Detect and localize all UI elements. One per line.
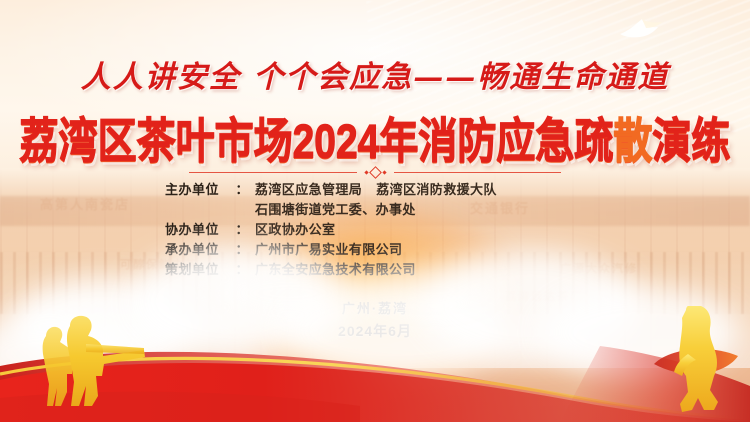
poster-slogan: 人人讲安全 个个会应急——畅通生命通道 — [0, 52, 750, 96]
organizer-label: 承办单位： — [165, 240, 249, 260]
divider-line-right — [394, 172, 562, 173]
organizer-row: 协办单位： 区政协办公室 — [165, 220, 585, 240]
person-silhouette-right — [652, 306, 742, 418]
title-segment-a: 荔湾区茶叶市场2024年消防应急疏 — [20, 116, 614, 168]
organizer-row: 主办单位： 石围塘街道党工委、办事处 — [165, 200, 585, 220]
title-segment-b: 散 — [613, 116, 652, 168]
ornament-diamond — [369, 166, 382, 179]
organizer-label: 主办单位： — [165, 180, 249, 200]
page-title: 荔湾区茶叶市场2024年消防应急疏散演练 — [0, 104, 750, 172]
organizer-value: 荔湾区应急管理局荔湾区消防救援大队 — [249, 180, 497, 200]
ornament-dot — [382, 170, 386, 174]
organizer-value: 石围塘街道党工委、办事处 — [249, 200, 416, 220]
ornamental-divider — [189, 166, 561, 178]
organizer-value: 广东全安应急技术有限公司 — [249, 260, 416, 280]
divider-ornament — [365, 168, 386, 177]
organizer-label: 策划单位： — [165, 260, 249, 280]
background-sign: 高第人南瓷店 — [40, 194, 130, 213]
divider-line-left — [189, 172, 357, 173]
organizer-list: 主办单位： 荔湾区应急管理局荔湾区消防救援大队 主办单位： 石围塘街道党工委、办… — [165, 180, 585, 280]
title-segment-c: 演练 — [652, 116, 730, 168]
organizer-value: 区政协办公室 — [249, 220, 335, 240]
ornament-dot — [364, 170, 368, 174]
organizer-row: 承办单位： 广州市广易实业有限公司 — [165, 240, 585, 260]
organizer-label: 协办单位： — [165, 220, 249, 240]
firefighter-silhouette-left — [26, 314, 146, 406]
organizer-row: 主办单位： 荔湾区应急管理局荔湾区消防救援大队 — [165, 180, 585, 200]
dove-icon — [618, 16, 664, 42]
organizer-row: 策划单位： 广东全安应急技术有限公司 — [165, 260, 585, 280]
organizer-value: 广州市广易实业有限公司 — [249, 240, 402, 260]
poster-canvas: 高第人南瓷店 可醇保鲜古茶 交通银行 广源大众汽修 荔湾远达茶厂 新星茶业 人人… — [0, 0, 750, 422]
